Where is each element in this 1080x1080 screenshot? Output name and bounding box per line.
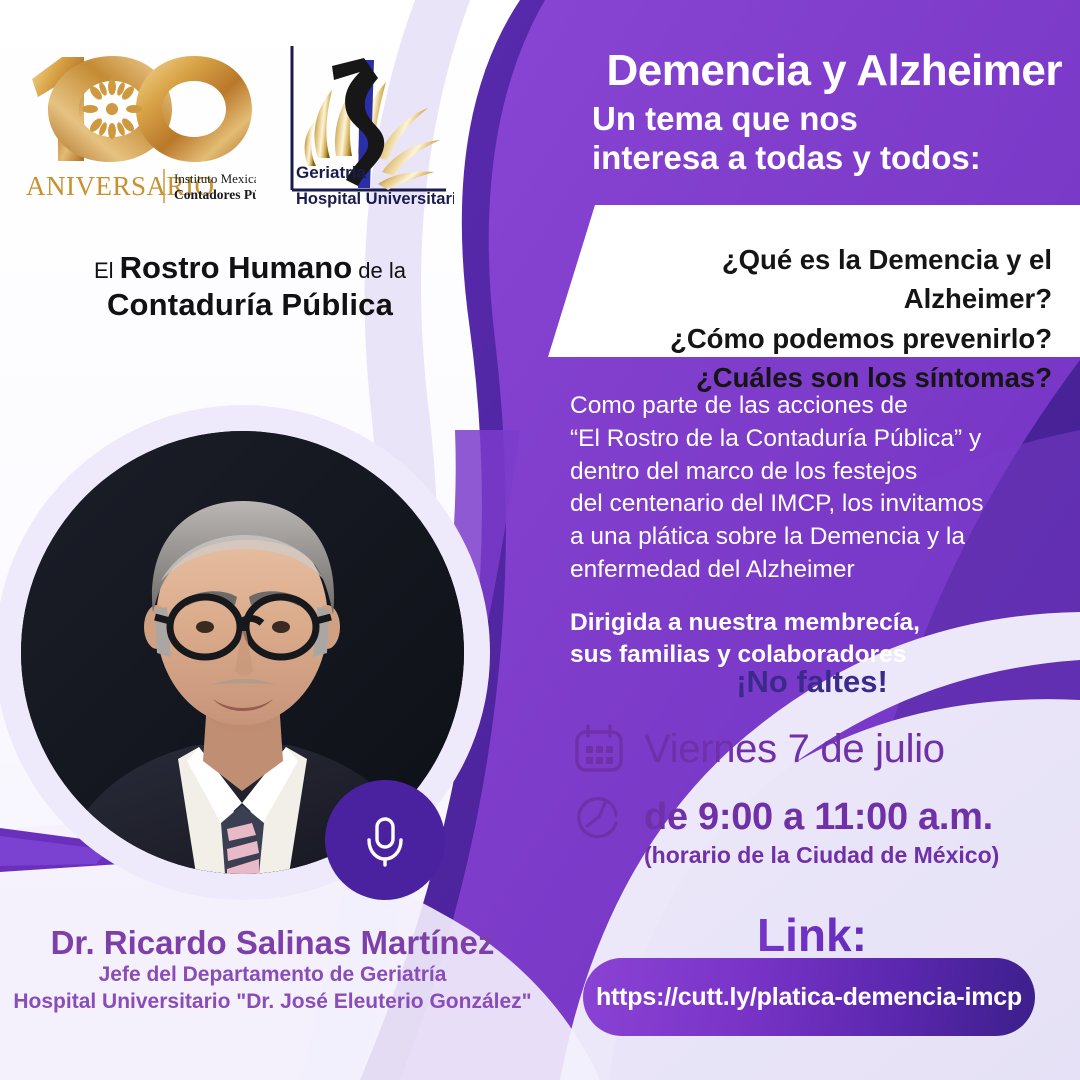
imcp-institute-line2: Contadores Públicos: [174, 187, 256, 202]
imcp-logo-graphic: ANIVERSARIO Instituto Mexicano de Contad…: [18, 43, 256, 213]
event-date-row: Viernes 7 de julio: [572, 722, 1042, 776]
left-column: ANIVERSARIO Instituto Mexicano de Contad…: [0, 0, 545, 1080]
audience-line1: Dirigida a nuestra membrecía,: [570, 607, 1040, 639]
speaker-credentials: Dr. Ricardo Salinas Martínez Jefe del De…: [0, 925, 545, 1016]
description-line-3: dentro del marco de los festejos: [570, 456, 1040, 489]
microphone-icon: [354, 809, 416, 871]
logo-row: ANIVERSARIO Instituto Mexicano de Contad…: [18, 38, 498, 218]
link-label: Link:: [592, 908, 1032, 962]
tagline-rostro-humano: Rostro Humano: [120, 250, 353, 285]
poster-subtitle-line2: interesa a todas y todos:: [592, 139, 1062, 178]
geriatria-logo-graphic: Geriatria Hospital Universitario: [274, 38, 454, 218]
clock-icon: [572, 790, 626, 844]
event-timezone: (horario de la Ciudad de México): [644, 842, 1042, 869]
link-button[interactable]: https://cutt.ly/platica-demencia-imcp: [583, 958, 1035, 1036]
link-url-text: https://cutt.ly/platica-demencia-imcp: [596, 983, 1022, 1012]
speaker-name: Dr. Ricardo Salinas Martínez: [0, 925, 545, 962]
imcp-100-aniversario-logo: ANIVERSARIO Instituto Mexicano de Contad…: [18, 43, 256, 213]
geriatria-label-line1: Geriatria: [296, 163, 366, 182]
title-block: Demencia y Alzheimer Un tema que nos int…: [592, 48, 1062, 178]
event-time: de 9:00 a 11:00 a.m.: [644, 796, 993, 839]
description-line-6: enfermedad del Alzheimer: [570, 554, 1040, 587]
questions-panel: ¿Qué es la Demencia y el Alzheimer? ¿Cóm…: [600, 240, 1052, 397]
event-time-row: de 9:00 a 11:00 a.m.: [572, 790, 1042, 844]
speaker-role-line1: Jefe del Departamento de Geriatría: [0, 962, 545, 989]
speaker-role-line2: Hospital Universitario "Dr. José Eleuter…: [0, 989, 545, 1016]
event-date: Viernes 7 de julio: [644, 727, 945, 772]
call-to-action: ¡No faltes!: [592, 664, 1032, 700]
question-1: ¿Qué es la Demencia y el Alzheimer?: [600, 240, 1052, 319]
event-details: Viernes 7 de julio de 9:00 a 11:00 a.m. …: [572, 722, 1042, 869]
question-2: ¿Cómo podemos prevenirlo?: [600, 319, 1052, 358]
description-line-1: Como parte de las acciones de: [570, 390, 1040, 423]
calendar-icon: [572, 722, 626, 776]
imcp-institute-line1: Instituto Mexicano de: [174, 171, 256, 186]
description-line-5: a una plática sobre la Demencia y la: [570, 521, 1040, 554]
description-paragraph: Como parte de las acciones de “El Rostro…: [570, 390, 1040, 671]
campaign-tagline: El Rostro Humano de la Contaduría Públic…: [0, 250, 500, 323]
tagline-dela: de la: [352, 258, 406, 283]
tagline-el: El: [94, 258, 120, 283]
geriatria-label-line2: Hospital Universitario: [296, 190, 454, 208]
poster-title: Demencia y Alzheimer: [592, 48, 1062, 94]
microphone-badge: [325, 780, 445, 900]
tagline-contaduria-publica: Contaduría Pública: [0, 287, 500, 324]
geriatria-hospital-universitario-logo: Geriatria Hospital Universitario: [274, 38, 454, 218]
description-line-2: “El Rostro de la Contaduría Pública” y: [570, 423, 1040, 456]
poster-canvas: ANIVERSARIO Instituto Mexicano de Contad…: [0, 0, 1080, 1080]
poster-subtitle-line1: Un tema que nos: [592, 100, 1062, 139]
description-line-4: del centenario del IMCP, los invitamos: [570, 488, 1040, 521]
